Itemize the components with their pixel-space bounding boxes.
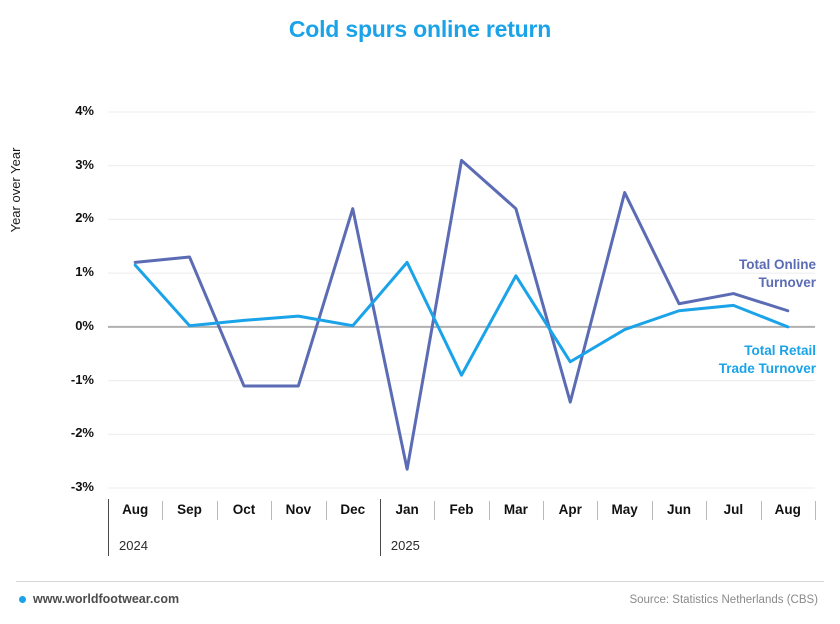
- footer-source: Source: Statistics Netherlands (CBS): [629, 594, 818, 606]
- legend-total-retail-trade-turnover: Total Retail Trade Turnover: [606, 342, 816, 378]
- legend-retail-line1: Total Retail: [744, 343, 816, 358]
- series-line-total-online-turnover: [135, 160, 788, 469]
- legend-total-online-turnover: Total Online Turnover: [616, 256, 816, 292]
- plot-area: [0, 0, 840, 624]
- footer-website[interactable]: www.worldfootwear.com: [33, 592, 179, 606]
- legend-online-line2: Turnover: [758, 275, 816, 290]
- footer-divider: [16, 581, 824, 582]
- bullet-icon: [19, 596, 26, 603]
- legend-online-line1: Total Online: [739, 257, 816, 272]
- chart-page: Cold spurs online return Year over Year …: [0, 0, 840, 624]
- legend-retail-line2: Trade Turnover: [719, 361, 816, 376]
